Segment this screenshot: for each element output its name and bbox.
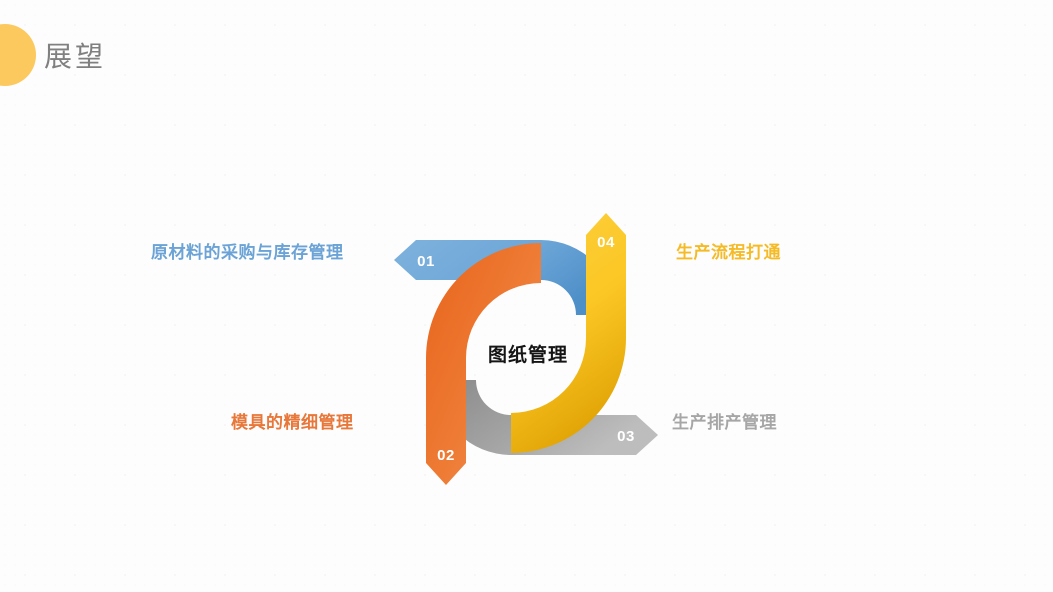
cycle-caption-04: 生产流程打通 xyxy=(676,238,781,263)
cycle-caption-02: 模具的精细管理 xyxy=(231,408,354,433)
diagram-center-label: 图纸管理 xyxy=(448,340,608,367)
cycle-arrow-01-number: 01 xyxy=(417,253,435,270)
cycle-caption-03: 生产排产管理 xyxy=(672,408,777,433)
cycle-arrow-02-number: 02 xyxy=(437,447,455,464)
cycle-arrow-04-number: 04 xyxy=(597,234,615,251)
cycle-caption-01: 原材料的采购与库存管理 xyxy=(151,238,344,263)
cycle-diagram: 03 01 02 04 图纸管理 原材料的采购与库存管理 模具的精细管理 生产排… xyxy=(0,0,1053,592)
cycle-arrow-03-number: 03 xyxy=(617,428,635,445)
